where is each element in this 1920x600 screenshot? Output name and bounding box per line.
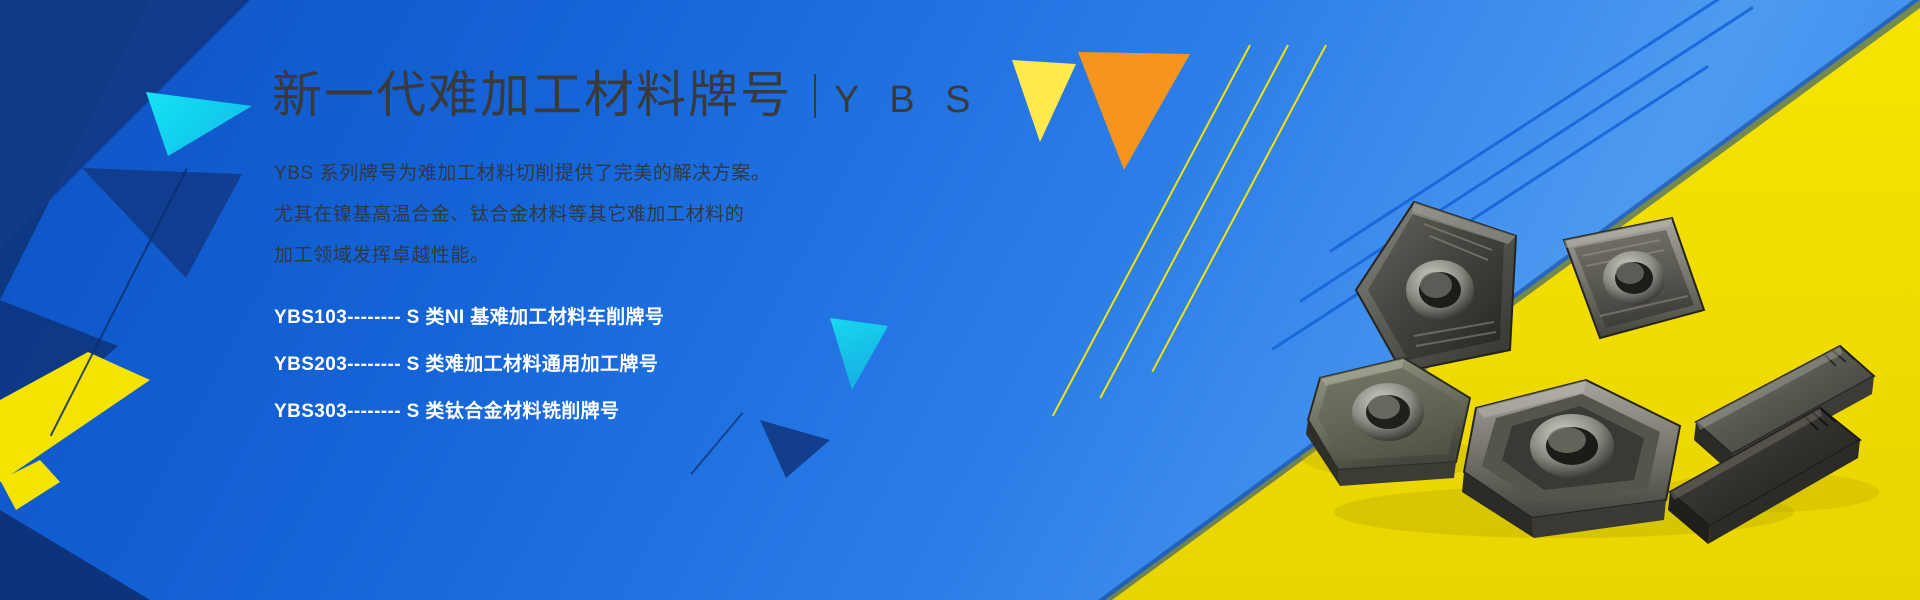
- insert-pentagon: [1306, 358, 1470, 486]
- insert-square-back: [1564, 218, 1704, 338]
- promo-banner: 新一代难加工材料牌号 Y B S YBS 系列牌号为难加工材料切削提供了完美的解…: [0, 0, 1920, 600]
- page-title: 新一代难加工材料牌号 Y B S: [272, 68, 980, 120]
- insert-trigon: [1356, 202, 1516, 372]
- description-line: YBS 系列牌号为难加工材料切削提供了完美的解决方案。: [274, 163, 771, 185]
- description-line: 加工领域发挥卓越性能。: [274, 245, 771, 267]
- description-block: YBS 系列牌号为难加工材料切削提供了完美的解决方案。 尤其在镍基高温合金、钛合…: [274, 163, 771, 286]
- product-image-inserts: [1264, 140, 1884, 560]
- description-line: 尤其在镍基高温合金、钛合金材料等其它难加工材料的: [274, 204, 771, 226]
- title-english: Y B S: [834, 81, 980, 119]
- title-separator-icon: [814, 74, 816, 118]
- list-item: YBS303-------- S 类钛合金材料铣削牌号: [274, 402, 664, 423]
- list-item: YBS203-------- S 类难加工材料通用加工牌号: [274, 355, 664, 376]
- list-item: YBS103-------- S 类NI 基难加工材料车削牌号: [274, 308, 664, 329]
- banner-content: 新一代难加工材料牌号 Y B S YBS 系列牌号为难加工材料切削提供了完美的解…: [272, 0, 1032, 600]
- grade-list: YBS103-------- S 类NI 基难加工材料车削牌号 YBS203--…: [274, 308, 664, 449]
- title-chinese: 新一代难加工材料牌号: [272, 70, 792, 120]
